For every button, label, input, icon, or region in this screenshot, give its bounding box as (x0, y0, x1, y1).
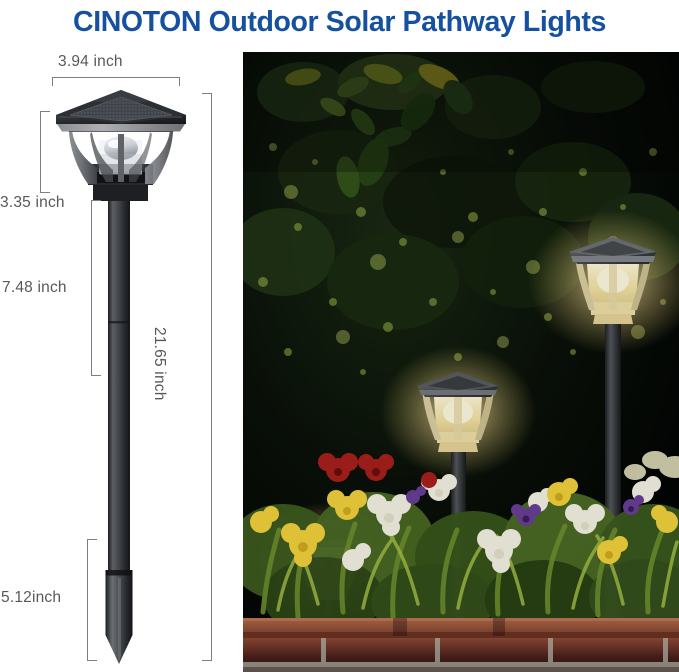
dimension-bracket-total-height (202, 93, 212, 661)
dimension-label-stake-length: 5.12inch (1, 589, 61, 607)
product-infographic: CINOTON Outdoor Solar Pathway Lights (0, 0, 679, 672)
dimension-bracket-pole-length (91, 200, 101, 376)
dimension-label-width: 3.94 inch (58, 53, 123, 71)
dimension-bracket-stake-length (87, 539, 97, 661)
lifestyle-photo (243, 52, 679, 672)
dimension-bracket-head-height (40, 111, 50, 193)
dimension-label-total-height: 21.65 inch (150, 327, 168, 401)
dimension-label-pole-length: 7.48 inch (2, 279, 67, 297)
night-garden-scene (243, 52, 679, 672)
dimension-diagram-panel: 3.94 inch 3.35 inch 7.48 inch 21.65 inch… (0, 44, 243, 672)
page-title: CINOTON Outdoor Solar Pathway Lights (0, 0, 679, 44)
dimension-label-head-height: 3.35 inch (0, 194, 65, 212)
dimension-bracket-width (52, 77, 180, 86)
